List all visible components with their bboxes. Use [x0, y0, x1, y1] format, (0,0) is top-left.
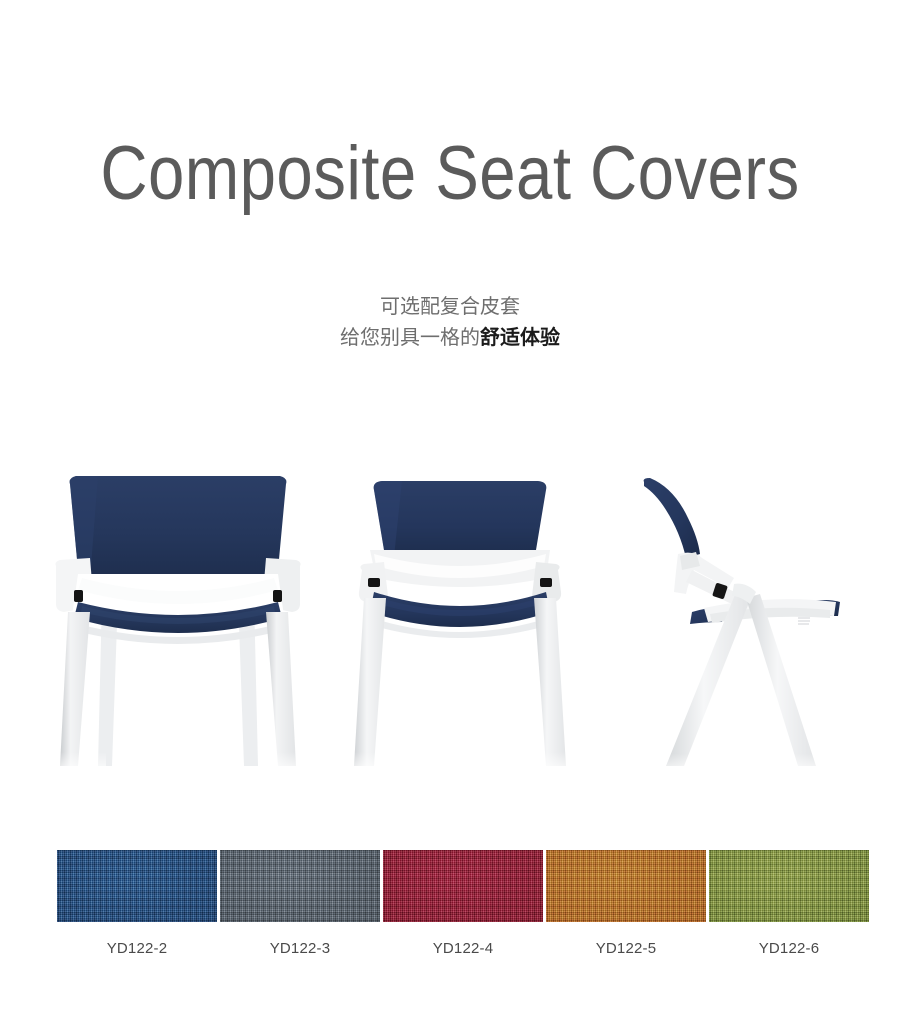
fabric-swatch-row: YD122-2 YD122-3 YD122-4 YD122-5 YD122-6 [0, 850, 900, 960]
subtitle-line-2-emphasis: 舒适体验 [480, 327, 560, 349]
swatch-color-blue[interactable] [57, 850, 217, 922]
swatch-color-gray[interactable] [220, 850, 380, 922]
swatch-label: YD122-3 [220, 940, 380, 957]
swatch-item-yd122-2[interactable]: YD122-2 [57, 850, 217, 957]
swatch-item-yd122-3[interactable]: YD122-3 [220, 850, 380, 957]
swatch-item-yd122-6[interactable]: YD122-6 [709, 850, 869, 957]
side-view-chair [630, 466, 880, 796]
swatch-color-orange[interactable] [546, 850, 706, 922]
subtitle-block: 可选配复合皮套 给您别具一格的舒适体验 [0, 292, 900, 354]
swatch-color-red[interactable] [383, 850, 543, 922]
subtitle-line-2: 给您别具一格的舒适体验 [0, 323, 900, 354]
rear-view-chair [38, 466, 318, 796]
page-title: Composite Seat Covers [63, 136, 837, 212]
product-gallery [0, 466, 900, 796]
swatch-label: YD122-5 [546, 940, 706, 957]
rear-view-chair-illustration [38, 466, 318, 796]
swatch-item-yd122-4[interactable]: YD122-4 [383, 850, 543, 957]
swatch-label: YD122-4 [383, 940, 543, 957]
swatch-color-green[interactable] [709, 850, 869, 922]
front-view-chair-illustration [340, 466, 590, 796]
front-view-chair [340, 466, 590, 796]
side-view-chair-illustration [630, 466, 880, 796]
subtitle-line-1: 可选配复合皮套 [0, 292, 900, 323]
swatch-item-yd122-5[interactable]: YD122-5 [546, 850, 706, 957]
swatch-label: YD122-2 [57, 940, 217, 957]
subtitle-line-2-normal: 给您别具一格的 [340, 327, 480, 349]
swatch-label: YD122-6 [709, 940, 869, 957]
